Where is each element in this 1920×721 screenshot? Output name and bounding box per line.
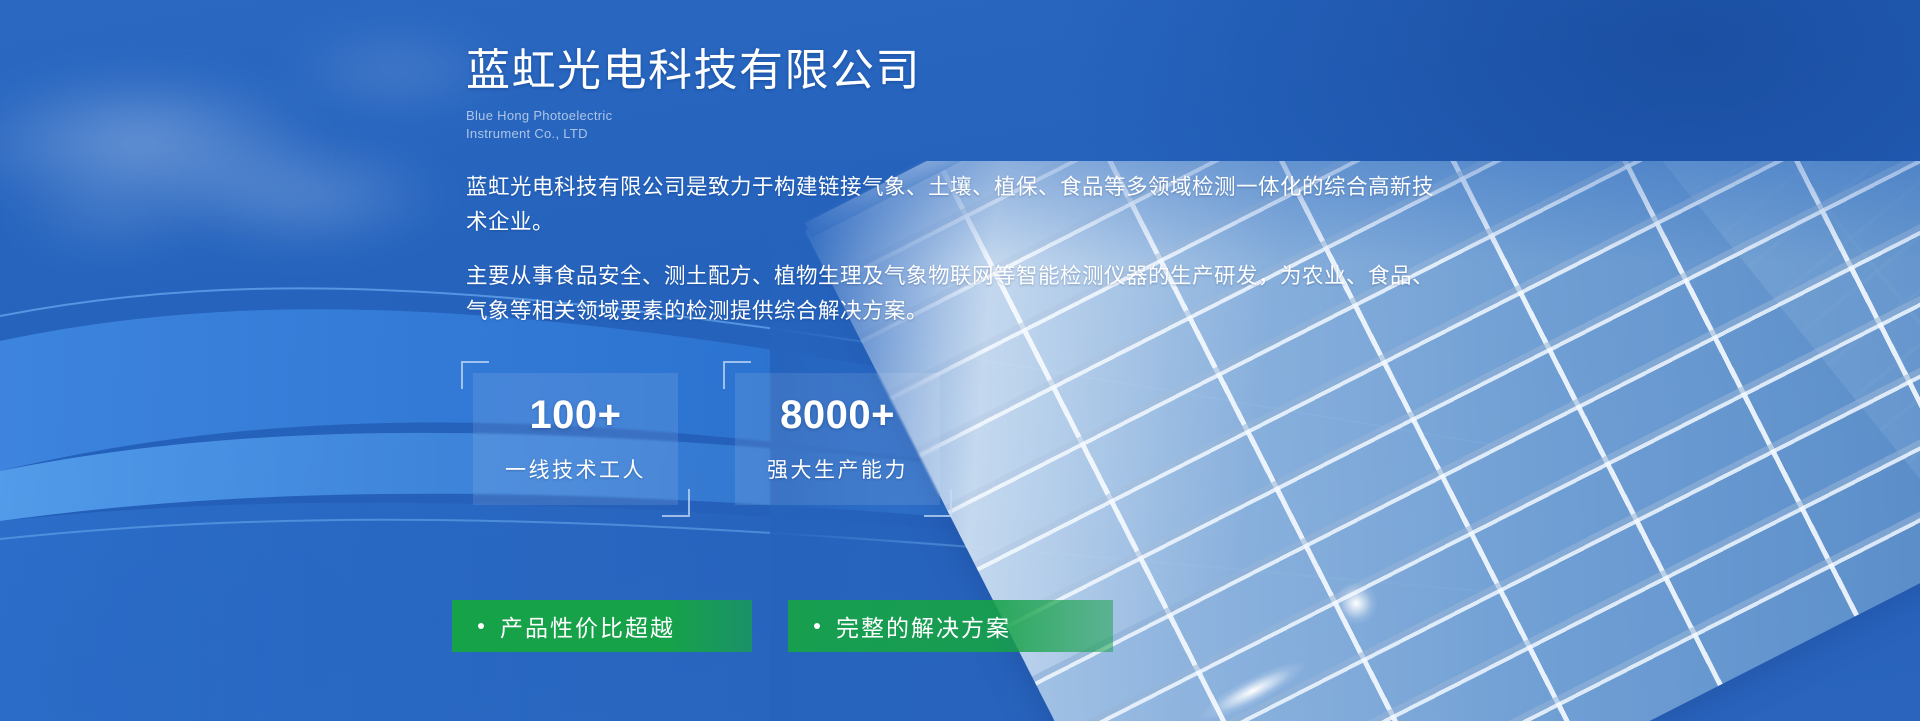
company-hero-banner: 蓝虹光电科技有限公司 Blue Hong Photoelectric Instr…: [0, 0, 1920, 721]
subtitle-line-1: Blue Hong Photoelectric: [466, 107, 1466, 125]
stat-card-capacity: 8000+ 强大生产能力: [735, 373, 940, 505]
description-paragraph-2: 主要从事食品安全、测土配方、植物生理及气象物联网等智能检测仪器的生产研发，为农业…: [466, 239, 1446, 329]
stat-label: 一线技术工人: [505, 454, 646, 484]
hero-content: 蓝虹光电科技有限公司 Blue Hong Photoelectric Instr…: [466, 0, 1466, 505]
company-title: 蓝虹光电科技有限公司: [466, 0, 1466, 97]
stat-card-workers: 100+ 一线技术工人: [473, 373, 678, 505]
description-paragraph-1: 蓝虹光电科技有限公司是致力于构建链接气象、土壤、植保、食品等多领域检测一体化的综…: [466, 144, 1446, 240]
feature-tag-label: 完整的解决方案: [836, 609, 1011, 643]
feature-tag-label: 产品性价比超越: [500, 609, 675, 643]
stat-value: 8000+: [780, 395, 895, 435]
feature-tag-value: 产品性价比超越: [452, 600, 752, 652]
stats-row: 100+ 一线技术工人 8000+ 强大生产能力: [466, 329, 1466, 505]
subtitle-line-2: Instrument Co., LTD: [466, 125, 1466, 143]
feature-tag-solution: 完整的解决方案: [788, 600, 1113, 652]
stat-label: 强大生产能力: [767, 454, 908, 484]
bullet-dot-icon: [478, 623, 484, 629]
company-subtitle-english: Blue Hong Photoelectric Instrument Co., …: [466, 107, 1466, 144]
stat-value: 100+: [529, 395, 621, 435]
bullet-dot-icon: [814, 623, 820, 629]
feature-tags-row: 产品性价比超越 完整的解决方案: [452, 600, 1113, 652]
